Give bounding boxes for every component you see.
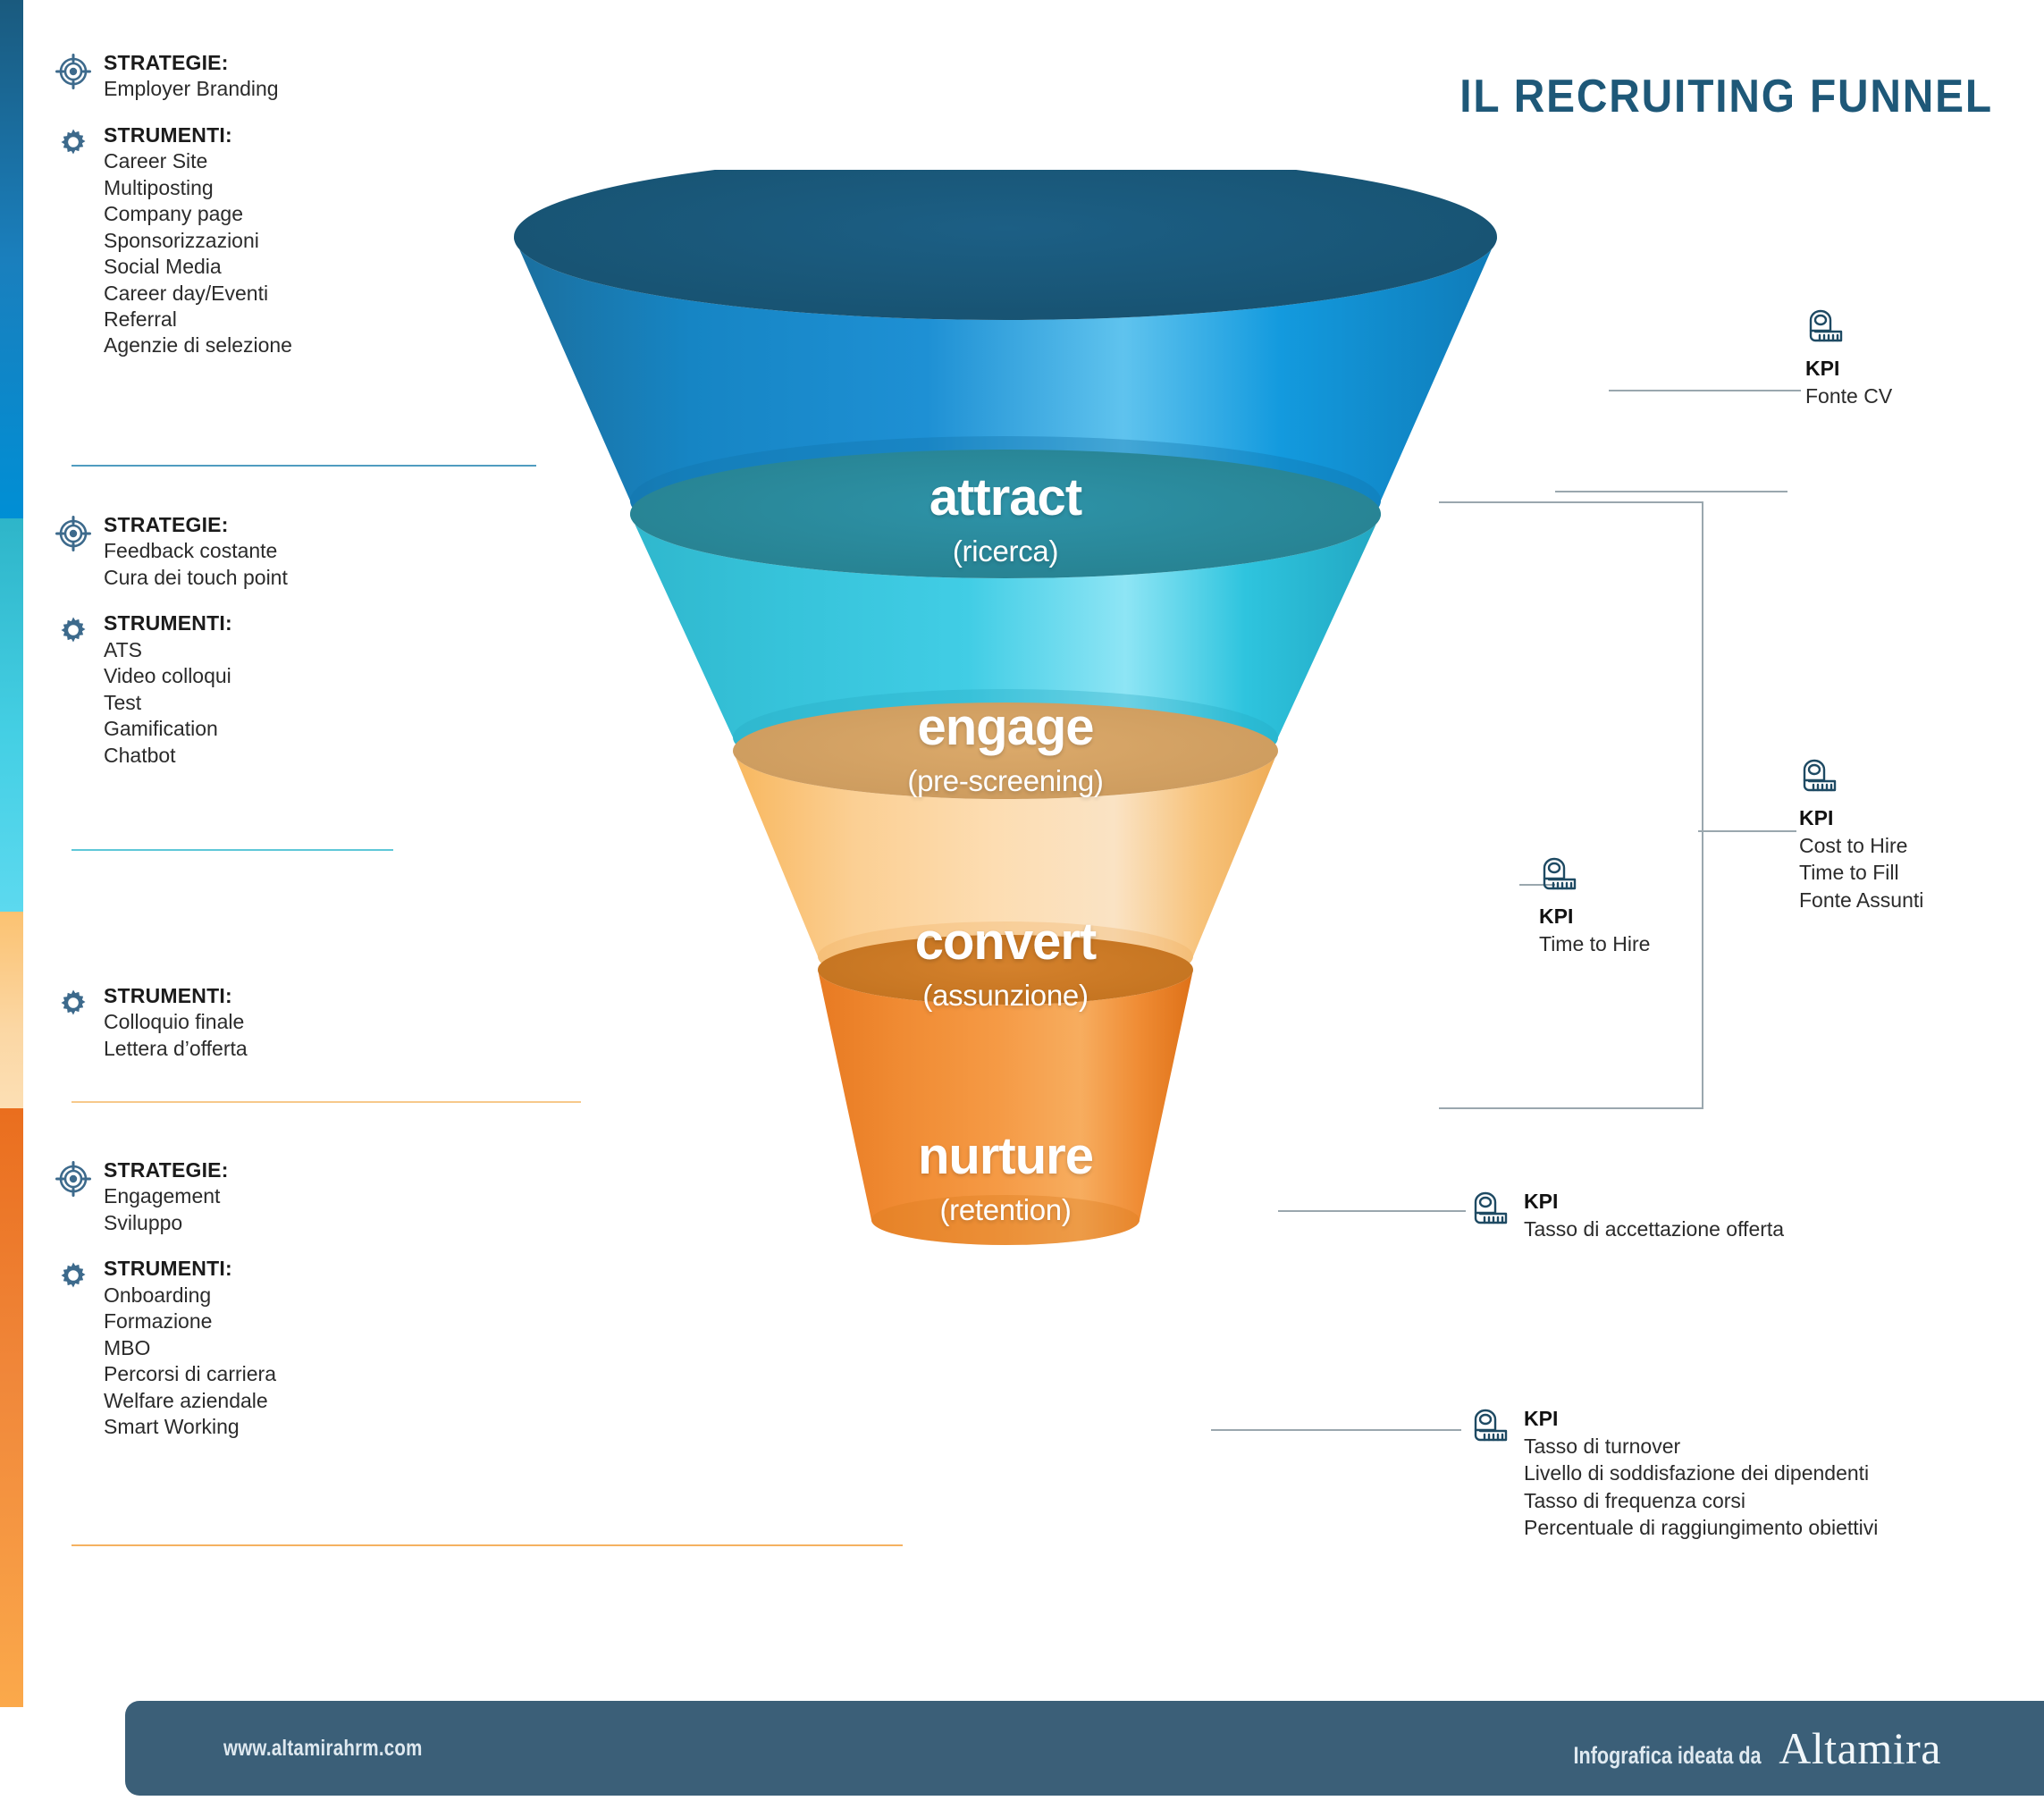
measuring-tape-icon bbox=[1799, 758, 1923, 800]
kpi-title: KPI bbox=[1524, 1406, 1878, 1433]
kpi-block-cost-time: KPI Cost to Hire Time to Fill Fonte Assu… bbox=[1799, 758, 1923, 913]
kpi-title: KPI bbox=[1524, 1189, 1784, 1216]
target-icon bbox=[55, 1157, 104, 1201]
rail-segment-engage bbox=[0, 518, 23, 912]
kpi-title: KPI bbox=[1539, 904, 1650, 930]
measuring-tape-icon bbox=[1805, 308, 1892, 350]
gear-icon bbox=[55, 1256, 104, 1300]
footer-website-link[interactable]: www.altamirahrm.com bbox=[223, 1736, 423, 1762]
gear-icon bbox=[55, 610, 104, 654]
sidebar-divider-engage bbox=[71, 849, 393, 851]
kpi-item: Percentuale di raggiungimento obiettivi bbox=[1524, 1514, 1878, 1541]
kpi-item: Time to Hire bbox=[1539, 930, 1650, 957]
target-icon bbox=[55, 50, 104, 94]
kpi-title: KPI bbox=[1799, 805, 1923, 832]
kpi-item: Tasso di frequenza corsi bbox=[1524, 1487, 1878, 1514]
kpi-item: Fonte Assunti bbox=[1799, 887, 1923, 913]
page-title: IL RECRUITING FUNNEL bbox=[1253, 70, 1993, 123]
kpi-item: Time to Fill bbox=[1799, 859, 1923, 886]
measuring-tape-icon bbox=[1470, 1406, 1511, 1450]
footer-branding: Infografica ideata da Altamira bbox=[1527, 1722, 1941, 1774]
kpi-item: Cost to Hire bbox=[1799, 832, 1923, 859]
kpi-block-time-to-hire: KPI Time to Hire bbox=[1539, 856, 1650, 957]
footer-credit-label: Infografica ideata da bbox=[1573, 1742, 1761, 1770]
recruiting-funnel-graphic: attract (ricerca) engage (pre-screening)… bbox=[447, 170, 1564, 1627]
kpi-item: Tasso di accettazione offerta bbox=[1524, 1216, 1784, 1242]
kpi-block-fonte-cv: KPI Fonte CV bbox=[1805, 308, 1892, 409]
altamira-logo: Altamira bbox=[1779, 1722, 1941, 1774]
rail-segment-convert bbox=[0, 912, 23, 1108]
gear-icon bbox=[55, 983, 104, 1027]
kpi-title: KPI bbox=[1805, 356, 1892, 383]
sidebar-heading: STRATEGIE: bbox=[104, 50, 520, 76]
target-icon bbox=[55, 512, 104, 556]
kpi-item: Fonte CV bbox=[1805, 383, 1892, 409]
funnel-segment-nurture bbox=[818, 935, 1193, 1245]
color-rail bbox=[0, 0, 23, 1707]
measuring-tape-icon bbox=[1539, 856, 1650, 898]
sidebar-heading: STRUMENTI: bbox=[104, 122, 520, 148]
sidebar-group-strategie: STRATEGIE: Employer Branding bbox=[55, 50, 520, 103]
rail-segment-nurture bbox=[0, 1108, 23, 1707]
kpi-item: Tasso di turnover bbox=[1524, 1433, 1878, 1460]
kpi-item: Livello di soddisfazione dei dipendenti bbox=[1524, 1460, 1878, 1486]
measuring-tape-icon bbox=[1470, 1189, 1511, 1233]
gear-icon bbox=[55, 122, 104, 166]
footer-bar: www.altamirahrm.com Infografica ideata d… bbox=[125, 1701, 2044, 1796]
rail-segment-attract bbox=[0, 0, 23, 518]
kpi-block-accettazione: KPI Tasso di accettazione offerta bbox=[1470, 1189, 1784, 1242]
sidebar-item: Employer Branding bbox=[104, 76, 520, 102]
kpi-block-retention: KPI Tasso di turnover Livello di soddisf… bbox=[1470, 1406, 1878, 1541]
